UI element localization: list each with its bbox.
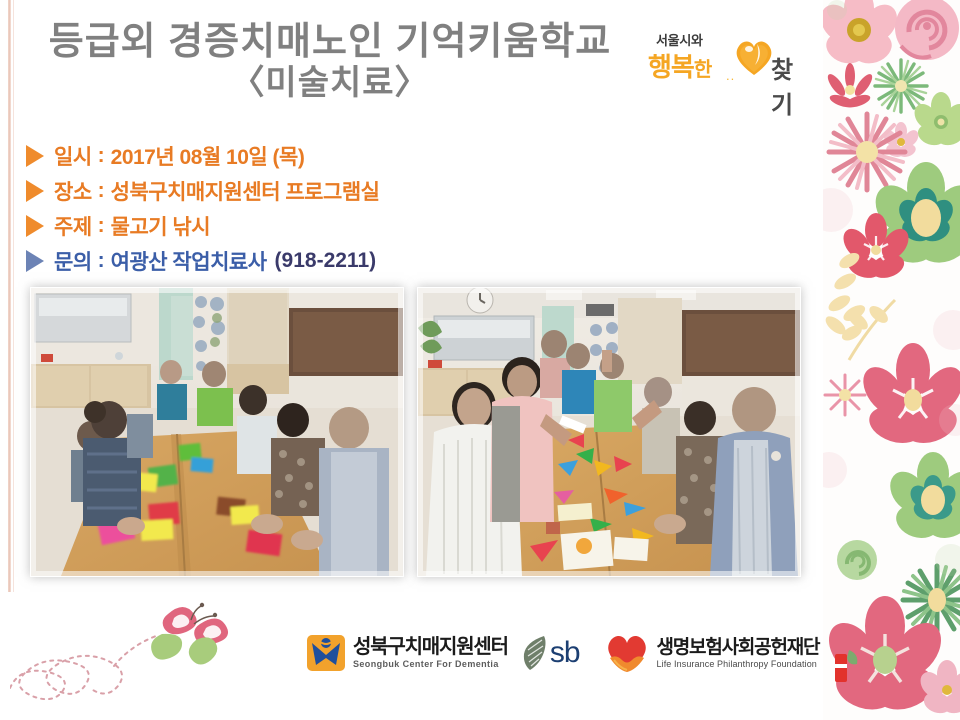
bullet-value-contact: 여광산 작업치료사 [111, 246, 267, 276]
butterfly-decoration [10, 590, 300, 700]
floral-pattern-graphic [823, 0, 960, 720]
triangle-bullet-icon [26, 145, 44, 167]
bullet-separator: : [98, 179, 105, 203]
bullet-label-topic: 주제 [54, 211, 92, 241]
seoul-logo-haengbok: 행복 [648, 52, 694, 82]
triangle-bullet-icon [26, 250, 44, 272]
heart-icon [734, 38, 774, 76]
bullet-value-place: 성북구치매지원센터 프로그램실 [111, 176, 380, 206]
seoul-logo-han: 한 [694, 59, 711, 81]
life-insurance-logo-ko: 생명보험사회공헌재단 [657, 638, 820, 657]
bullet-separator: : [98, 214, 105, 238]
butterfly-icon [151, 603, 228, 665]
title-line-2: 〈미술치료〉 [20, 65, 640, 102]
sb-logo-mark: sb [550, 636, 580, 670]
contact-phone-number: (918-2211) [275, 249, 377, 273]
presentation-slide: 등급외 경증치매노인 기억키움학교 〈미술치료〉 서울시와 행복한 .. 찾기 … [0, 0, 960, 720]
seongbuk-star-icon [305, 633, 347, 673]
life-insurance-foundation-logo: 생명보험사회공헌재단 Life Insurance Philanthropy F… [604, 632, 820, 674]
bullet-value-topic: 물고기 낚시 [111, 211, 210, 241]
bullet-label-place: 장소 [54, 176, 92, 206]
bullet-label-contact: 문의 [54, 246, 92, 276]
left-accent-rule [8, 0, 11, 592]
bullet-separator: : [98, 249, 105, 273]
bullet-separator: : [98, 144, 105, 168]
triangle-bullet-icon [26, 215, 44, 237]
slide-title: 등급외 경증치매노인 기억키움학교 〈미술치료〉 [20, 22, 640, 102]
activity-photo-left [30, 287, 404, 577]
seongbuk-logo-ko: 성북구치매지원센터 [353, 637, 508, 657]
left-accent-rule-thin [13, 0, 14, 592]
seoul-logo-find-text: 찾기 [771, 50, 798, 120]
sb-feather-icon [522, 634, 548, 672]
seongbuk-logo-en: Seongbuk Center For Dementia [353, 660, 508, 669]
title-line-1: 등급외 경증치매노인 기억키움학교 [20, 22, 640, 63]
footer-logo-row: 성북구치매지원센터 Seongbuk Center For Dementia s… [305, 628, 819, 678]
bullet-item-contact: 문의 : 여광산 작업치료사 (918-2211) [26, 243, 586, 278]
seoul-logo-main-text: 행복한 [648, 47, 711, 84]
heart-hands-icon [604, 632, 650, 674]
seoul-happy-logo: 서울시와 행복한 .. 찾기 [648, 30, 798, 92]
life-insurance-logo-en: Life Insurance Philanthropy Foundation [657, 660, 820, 669]
bullet-label-date: 일시 [54, 141, 92, 171]
photo-right-graphic [418, 288, 800, 576]
bullet-item-date: 일시 : 2017년 08월 10일 (목) [26, 138, 586, 173]
info-bullet-list: 일시 : 2017년 08월 10일 (목) 장소 : 성북구치매지원센터 프로… [26, 138, 586, 278]
bullet-item-topic: 주제 : 물고기 낚시 [26, 208, 586, 243]
activity-photo-right [417, 287, 801, 577]
bullet-value-date: 2017년 08월 10일 (목) [111, 141, 305, 171]
seongbuk-dementia-center-logo: 성북구치매지원센터 Seongbuk Center For Dementia [305, 633, 508, 673]
triangle-bullet-icon [26, 180, 44, 202]
floral-pattern-decoration [823, 0, 960, 720]
bullet-item-place: 장소 : 성북구치매지원센터 프로그램실 [26, 173, 586, 208]
photo-left-graphic [31, 288, 403, 576]
sb-logo: sb [522, 634, 580, 672]
